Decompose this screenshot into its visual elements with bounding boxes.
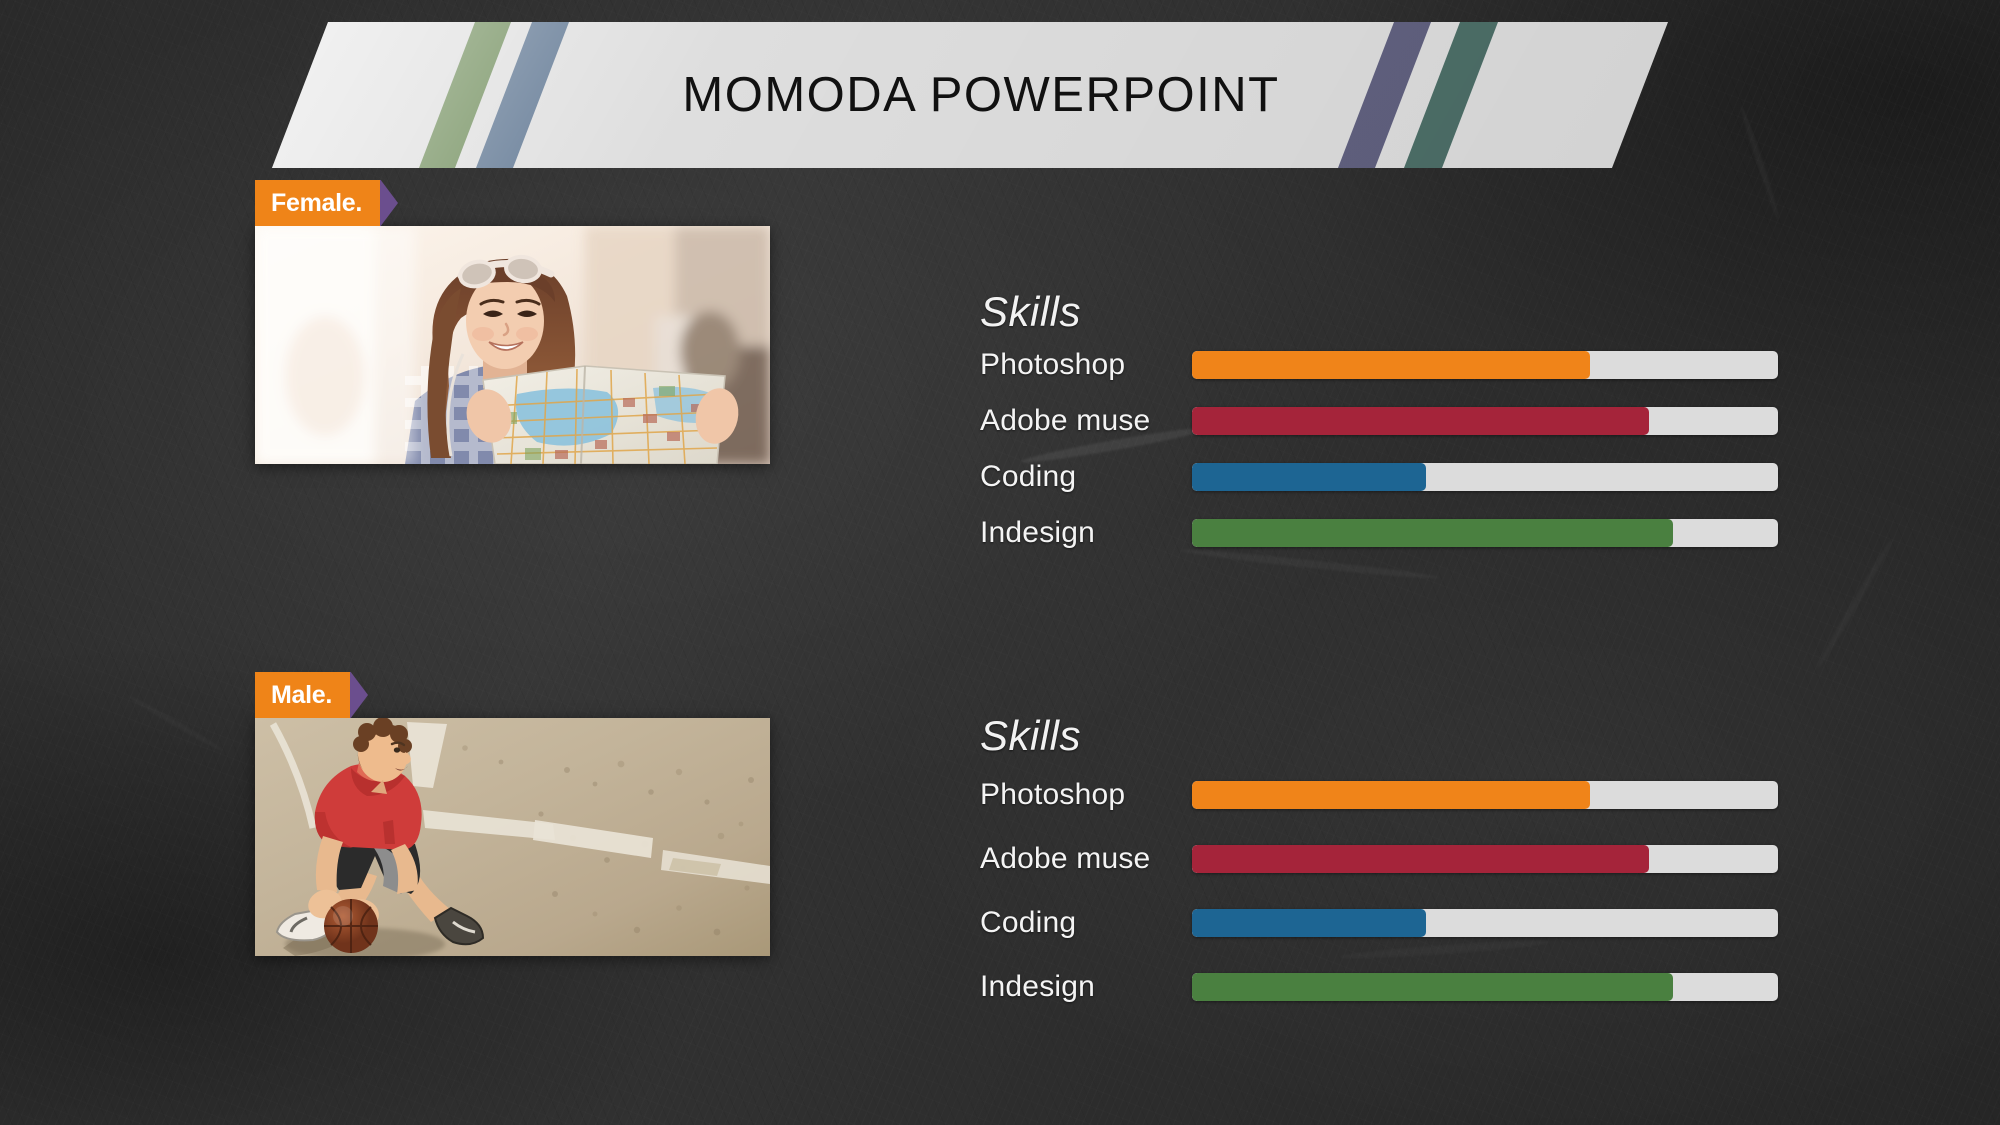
skill-label-indesign: Indesign (980, 970, 1192, 1004)
skill-label-adobe-muse: Adobe muse (980, 842, 1192, 876)
skill-row-photoshop-female: Photoshop (980, 348, 1778, 382)
photo-female (255, 226, 770, 464)
skill-fill-adobemuse-female (1192, 407, 1649, 435)
skill-track-photoshop-female[interactable] (1192, 351, 1778, 379)
slide-title: MOMODA POWERPOINT (180, 22, 1760, 168)
profile-card-female: Female. (255, 180, 770, 464)
badge-female-label: Female. (271, 191, 362, 216)
badge-male[interactable]: Male. (255, 672, 384, 718)
header-banner: MOMODA POWERPOINT (180, 22, 1760, 168)
chevron-right-icon (380, 180, 414, 226)
skill-row-adobemuse-female: Adobe muse (980, 404, 1778, 438)
skill-fill-adobemuse-male (1192, 845, 1649, 873)
skill-row-coding-male: Coding (980, 906, 1778, 940)
skill-label-coding: Coding (980, 460, 1192, 494)
badge-male-body: Male. (255, 672, 350, 718)
skills-panel-female: Skills Photoshop Adobe muse Coding Indes… (980, 288, 1778, 550)
skill-row-indesign-male: Indesign (980, 970, 1778, 1004)
skill-fill-indesign-male (1192, 973, 1673, 1001)
skill-label-photoshop: Photoshop (980, 348, 1192, 382)
skill-track-indesign-male[interactable] (1192, 973, 1778, 1001)
skill-track-adobemuse-male[interactable] (1192, 845, 1778, 873)
skill-track-indesign-female[interactable] (1192, 519, 1778, 547)
skill-track-coding-male[interactable] (1192, 909, 1778, 937)
chevron-right-icon (350, 672, 384, 718)
skills-panel-male: Skills Photoshop Adobe muse Coding Indes… (980, 712, 1778, 1004)
badge-male-label: Male. (271, 683, 332, 708)
skill-fill-coding-female (1192, 463, 1426, 491)
photo-male (255, 718, 770, 956)
chalk-scratch (1814, 537, 1895, 670)
skill-row-adobemuse-male: Adobe muse (980, 842, 1778, 876)
chalk-scratch (126, 693, 224, 753)
chalk-scratch (1180, 546, 1439, 581)
skill-label-indesign: Indesign (980, 516, 1192, 550)
skills-title-male: Skills (980, 712, 1778, 760)
skills-title-female: Skills (980, 288, 1778, 336)
photo-female-illustration (255, 226, 770, 464)
photo-male-illustration (255, 718, 770, 956)
skill-label-adobe-muse: Adobe muse (980, 404, 1192, 438)
skill-row-photoshop-male: Photoshop (980, 778, 1778, 812)
skill-fill-coding-male (1192, 909, 1426, 937)
skill-label-coding: Coding (980, 906, 1192, 940)
skill-fill-indesign-female (1192, 519, 1673, 547)
profile-card-male: Male. (255, 672, 770, 956)
badge-female-body: Female. (255, 180, 380, 226)
skill-track-photoshop-male[interactable] (1192, 781, 1778, 809)
skill-track-coding-female[interactable] (1192, 463, 1778, 491)
skill-track-adobemuse-female[interactable] (1192, 407, 1778, 435)
skill-row-coding-female: Coding (980, 460, 1778, 494)
badge-female[interactable]: Female. (255, 180, 414, 226)
slide-canvas: MOMODA POWERPOINT Female. (0, 0, 2000, 1125)
skill-fill-photoshop-female (1192, 351, 1590, 379)
skill-row-indesign-female: Indesign (980, 516, 1778, 550)
skill-fill-photoshop-male (1192, 781, 1590, 809)
skill-label-photoshop: Photoshop (980, 778, 1192, 812)
